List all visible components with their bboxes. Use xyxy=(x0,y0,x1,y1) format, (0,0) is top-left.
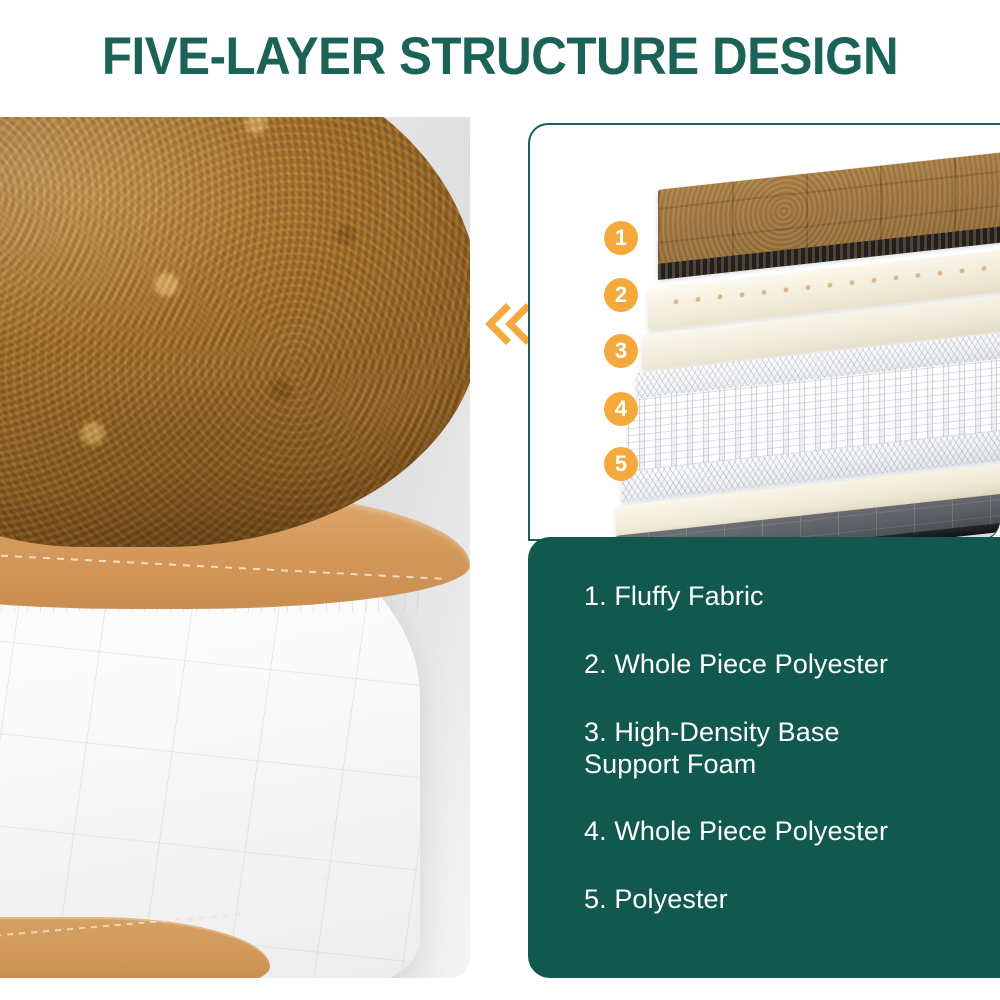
layer-badge-2: 2 xyxy=(604,278,638,312)
layer-badge-5: 5 xyxy=(604,447,638,481)
layer-badge-3: 3 xyxy=(604,334,638,368)
layer-list-item-3: 3. High-Density Base Support Foam xyxy=(584,717,1000,781)
layer-diagram-card: 1 2 3 4 5 xyxy=(528,123,1000,541)
page-title: FIVE-LAYER STRUCTURE DESIGN xyxy=(35,26,965,87)
bed-fluffy-sherpa-cushion xyxy=(0,117,470,547)
double-chevron-left-icon xyxy=(484,300,532,348)
mattress-exploded-stack xyxy=(530,125,1000,539)
layer-badge-1: 1 xyxy=(604,221,638,255)
layer-badge-4: 4 xyxy=(604,392,638,426)
layer-list-item-2: 2. Whole Piece Polyester xyxy=(584,649,1000,681)
layer-list-item-4: 4. Whole Piece Polyester xyxy=(584,816,1000,848)
layer-list-panel: 1. Fluffy Fabric 2. Whole Piece Polyeste… xyxy=(528,537,1000,978)
layer-list-item-5: 5. Polyester xyxy=(584,884,1000,916)
layer-list-item-1: 1. Fluffy Fabric xyxy=(584,581,1000,613)
product-photo xyxy=(0,117,470,978)
